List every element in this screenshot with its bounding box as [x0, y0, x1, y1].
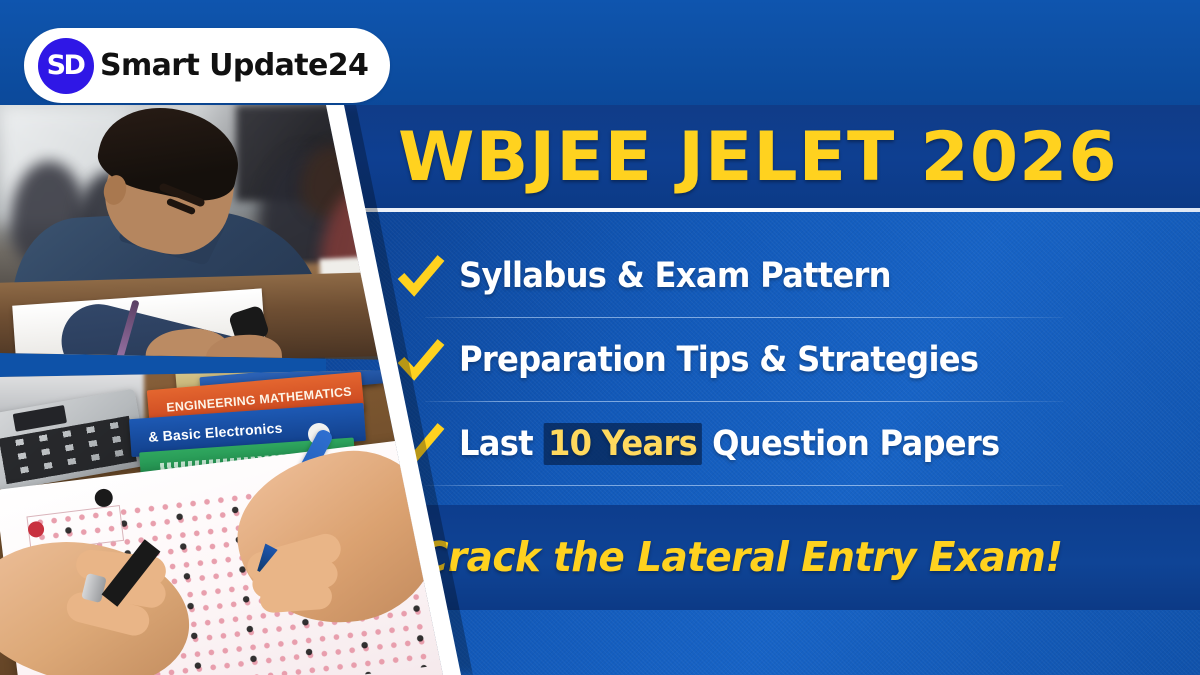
page-title: WBJEE JELET 2026: [398, 112, 1112, 204]
brand-logo-pill[interactable]: SD Smart Update24: [24, 28, 390, 103]
brand-mark-text: SD: [47, 52, 86, 79]
list-item-suffix: Question Papers: [702, 424, 1000, 464]
list-item-prefix: Last: [459, 424, 543, 464]
feature-list: Syllabus & Exam Pattern Preparation Tips…: [395, 234, 1095, 486]
book-title-label: & Basic Electronics: [130, 420, 283, 447]
list-item-label: Preparation Tips & Strategies: [459, 340, 978, 380]
title-divider-rule: [326, 208, 1200, 212]
list-item: Preparation Tips & Strategies: [395, 318, 1095, 402]
check-icon: [395, 250, 447, 302]
list-item-label: Syllabus & Exam Pattern: [459, 256, 891, 296]
brand-name: Smart Update24: [100, 48, 368, 83]
tagline: Crack the Lateral Entry Exam!: [420, 518, 1062, 596]
list-item-highlight: 10 Years: [543, 423, 701, 465]
list-divider: [425, 485, 1063, 486]
list-item: Last 10 Years Question Papers: [395, 402, 1095, 486]
list-item: Syllabus & Exam Pattern: [395, 234, 1095, 318]
omr-registration-mark: [94, 488, 114, 508]
list-item-label: Last 10 Years Question Papers: [459, 424, 999, 464]
right-finger: [259, 583, 333, 614]
promo-banner: SD Smart Update24: [0, 0, 1200, 675]
sd-monogram-icon: SD: [38, 38, 94, 94]
